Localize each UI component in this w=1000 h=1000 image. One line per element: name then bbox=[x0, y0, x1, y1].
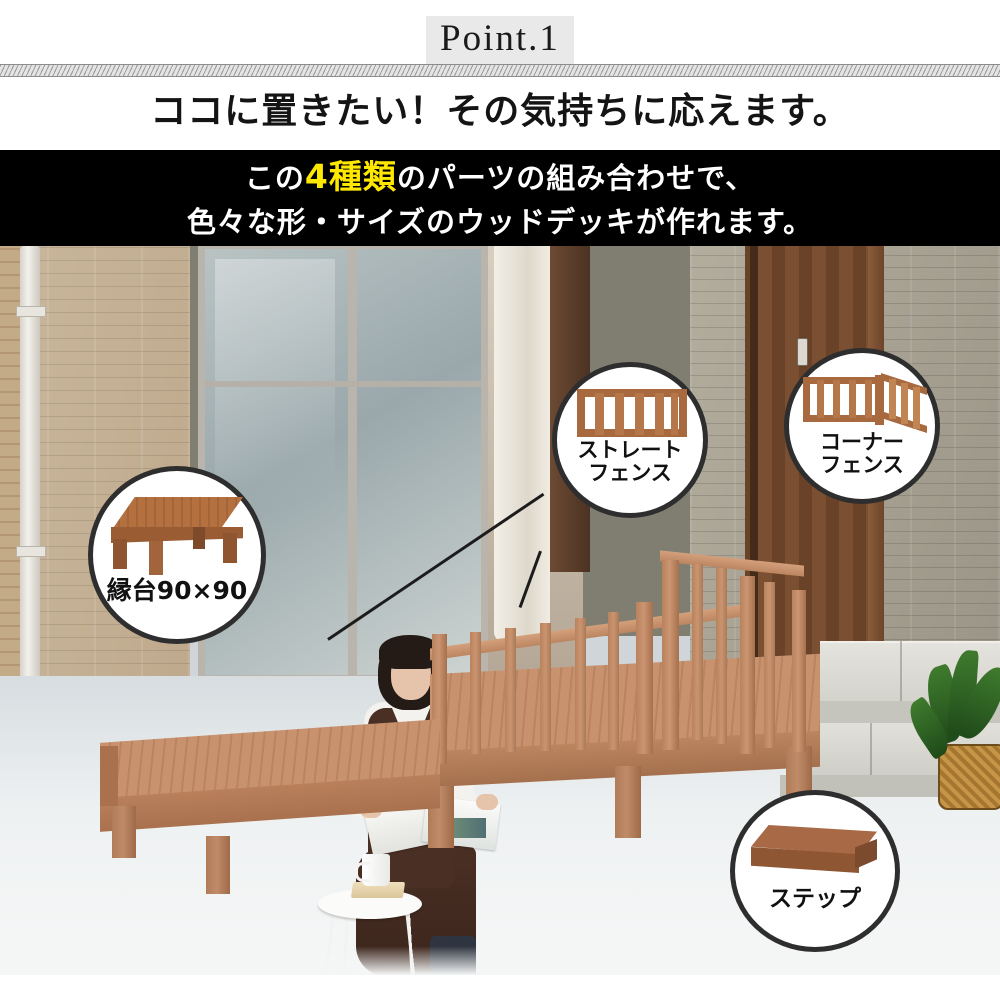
railing-slat-8 bbox=[764, 582, 775, 748]
corner-slat-l2 bbox=[833, 380, 840, 418]
hatched-divider bbox=[0, 64, 1000, 77]
downpipe bbox=[20, 246, 40, 726]
corner-slat-r1 bbox=[889, 379, 896, 419]
mug-handle bbox=[355, 862, 370, 882]
downpipe-band-bottom bbox=[16, 546, 46, 557]
callout-endai[interactable]: 縁台90×90 bbox=[88, 466, 266, 644]
callout-corner-fence[interactable]: コーナー フェンス bbox=[784, 348, 940, 504]
plant-basket bbox=[938, 744, 1000, 810]
callout-corner-label-1: コーナー bbox=[820, 431, 904, 454]
railing-post-3 bbox=[662, 560, 679, 750]
photo-bottom-fade bbox=[0, 946, 1000, 975]
callout-straight-label-2: フェンス bbox=[588, 462, 672, 485]
point-badge: Point.1 bbox=[0, 16, 1000, 65]
corner-slat-l1 bbox=[817, 380, 824, 418]
railing-slat-6 bbox=[692, 564, 703, 740]
railing-slat-1 bbox=[470, 632, 481, 754]
fence-slat-2 bbox=[615, 393, 624, 435]
callout-step-label: ステップ bbox=[769, 887, 861, 912]
woman-hand-right bbox=[476, 794, 498, 810]
railing-slat-3 bbox=[540, 623, 551, 751]
bench-leg-3 bbox=[223, 533, 237, 563]
callout-straight-label-1: ストレート bbox=[578, 439, 683, 462]
deck-leg-left-2 bbox=[206, 836, 230, 894]
callout-corner-label-2: フェンス bbox=[820, 454, 904, 477]
fence-post-right bbox=[679, 389, 687, 437]
page-header: Point.1 ココに置きたい！その気持ちに応えます。 bbox=[0, 0, 1000, 150]
point-label: Point.1 bbox=[426, 16, 574, 65]
promo-banner: この4種類のパーツの組み合わせで、 色々な形・サイズのウッドデッキが作れます。 bbox=[0, 150, 1000, 246]
railing-post-4 bbox=[740, 576, 755, 754]
fence-slat-4 bbox=[655, 393, 664, 435]
marketing-page: Point.1 ココに置きたい！その気持ちに応えます。 この4種類のパーツの組み… bbox=[0, 0, 1000, 1000]
railing-slat-5 bbox=[608, 612, 619, 750]
railing-post-5 bbox=[792, 590, 806, 752]
banner-line1-post: のパーツの組み合わせで、 bbox=[397, 161, 755, 195]
fence-post-left bbox=[577, 389, 585, 437]
corner-fence-icon bbox=[789, 353, 935, 431]
railing-slat-4 bbox=[575, 618, 586, 750]
railing-slat-7 bbox=[716, 568, 727, 744]
corner-slat-l3 bbox=[849, 380, 856, 418]
page-headline: ココに置きたい！その気持ちに応えます。 bbox=[0, 82, 1000, 134]
fence-slat-1 bbox=[595, 393, 604, 435]
straight-fence-icon bbox=[557, 367, 703, 439]
fence-slat-5 bbox=[671, 393, 678, 435]
bench-leg-2 bbox=[149, 541, 163, 575]
step-box-icon bbox=[735, 795, 895, 887]
banner-line-1: この4種類のパーツの組み合わせで、 bbox=[245, 153, 755, 201]
bench-leg-4 bbox=[193, 527, 205, 549]
window-mullion-horizontal bbox=[205, 381, 481, 387]
deck-leg-center bbox=[615, 766, 641, 838]
fence-slat-3 bbox=[635, 393, 644, 435]
railing-slat-2 bbox=[505, 628, 516, 752]
downpipe-band-top bbox=[16, 306, 46, 317]
callout-endai-label: 縁台90×90 bbox=[107, 577, 248, 604]
wooden-bench-icon bbox=[93, 471, 261, 575]
sliding-window bbox=[198, 246, 488, 682]
corner-slat-r2 bbox=[901, 383, 908, 424]
curtain bbox=[494, 246, 550, 642]
tile-seam-2 bbox=[870, 723, 872, 775]
bench-leg-1 bbox=[113, 539, 127, 569]
tile-seam-1 bbox=[900, 641, 902, 701]
callout-straight-fence[interactable]: ストレート フェンス bbox=[552, 362, 708, 518]
corner-post-left bbox=[803, 377, 810, 422]
window-mullion-vertical bbox=[348, 249, 357, 675]
bench-top-surface bbox=[111, 497, 243, 531]
railing-post-2 bbox=[636, 602, 653, 754]
corner-slat-l4 bbox=[865, 380, 872, 418]
callout-step[interactable]: ステップ bbox=[730, 790, 900, 952]
banner-line-2: 色々な形・サイズのウッドデッキが作れます。 bbox=[187, 201, 813, 243]
deck-leg-left-1 bbox=[112, 806, 136, 858]
deck-side-left bbox=[100, 746, 118, 806]
banner-line1-pre: この bbox=[245, 161, 305, 195]
banner-highlight: 4種類 bbox=[305, 157, 397, 196]
corner-slat-r3 bbox=[913, 387, 920, 429]
